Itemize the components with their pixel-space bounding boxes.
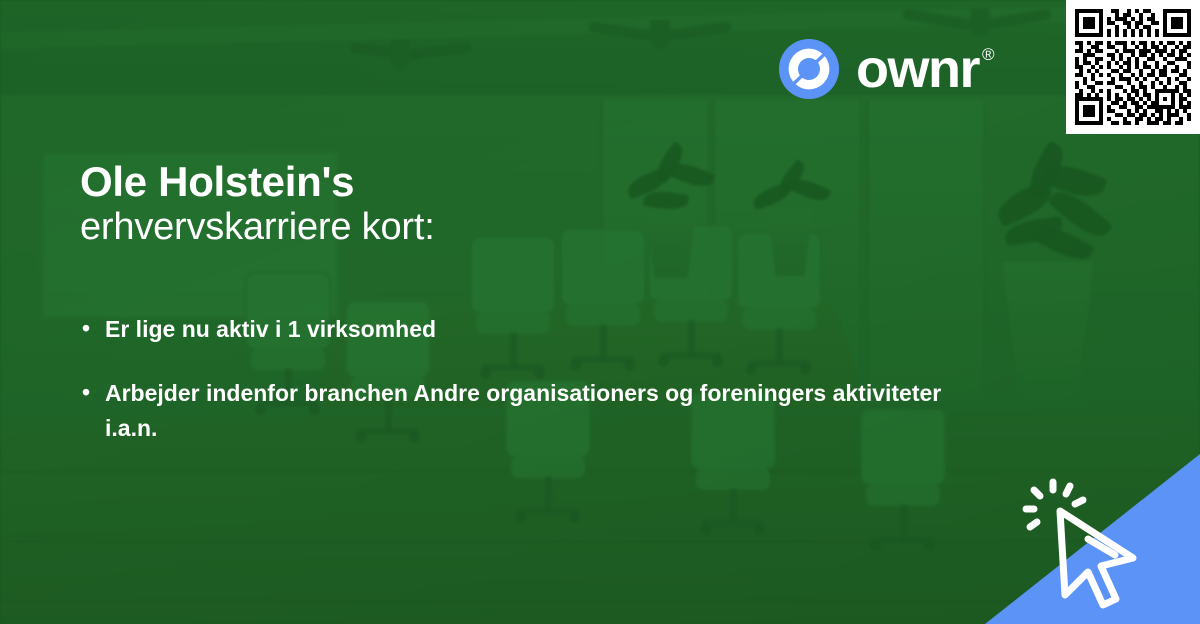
page-title: Ole Holstein's erhvervskarriere kort: bbox=[80, 158, 435, 251]
business-career-card: ownr ® bbox=[0, 0, 1200, 624]
list-item: Arbejder indenfor branchen Andre organis… bbox=[80, 376, 960, 447]
career-facts-list: Er lige nu aktiv i 1 virksomhed Arbejder… bbox=[80, 312, 960, 475]
qr-code bbox=[1075, 9, 1191, 125]
subtitle: erhvervskarriere kort: bbox=[80, 205, 435, 251]
registered-trademark-icon: ® bbox=[982, 46, 995, 63]
list-item: Er lige nu aktiv i 1 virksomhed bbox=[80, 312, 960, 348]
blue-corner-accent bbox=[985, 454, 1200, 624]
ownr-wordmark: ownr ® bbox=[856, 42, 995, 96]
person-name: Ole Holstein's bbox=[80, 158, 435, 205]
wordmark-text: ownr bbox=[856, 42, 979, 96]
ownr-logo[interactable]: ownr ® bbox=[778, 38, 995, 100]
corner-shape bbox=[985, 454, 1200, 624]
qr-code-panel[interactable] bbox=[1066, 0, 1200, 134]
card-content: ownr ® bbox=[0, 0, 1200, 624]
ownr-circle-logo-icon bbox=[778, 38, 840, 100]
